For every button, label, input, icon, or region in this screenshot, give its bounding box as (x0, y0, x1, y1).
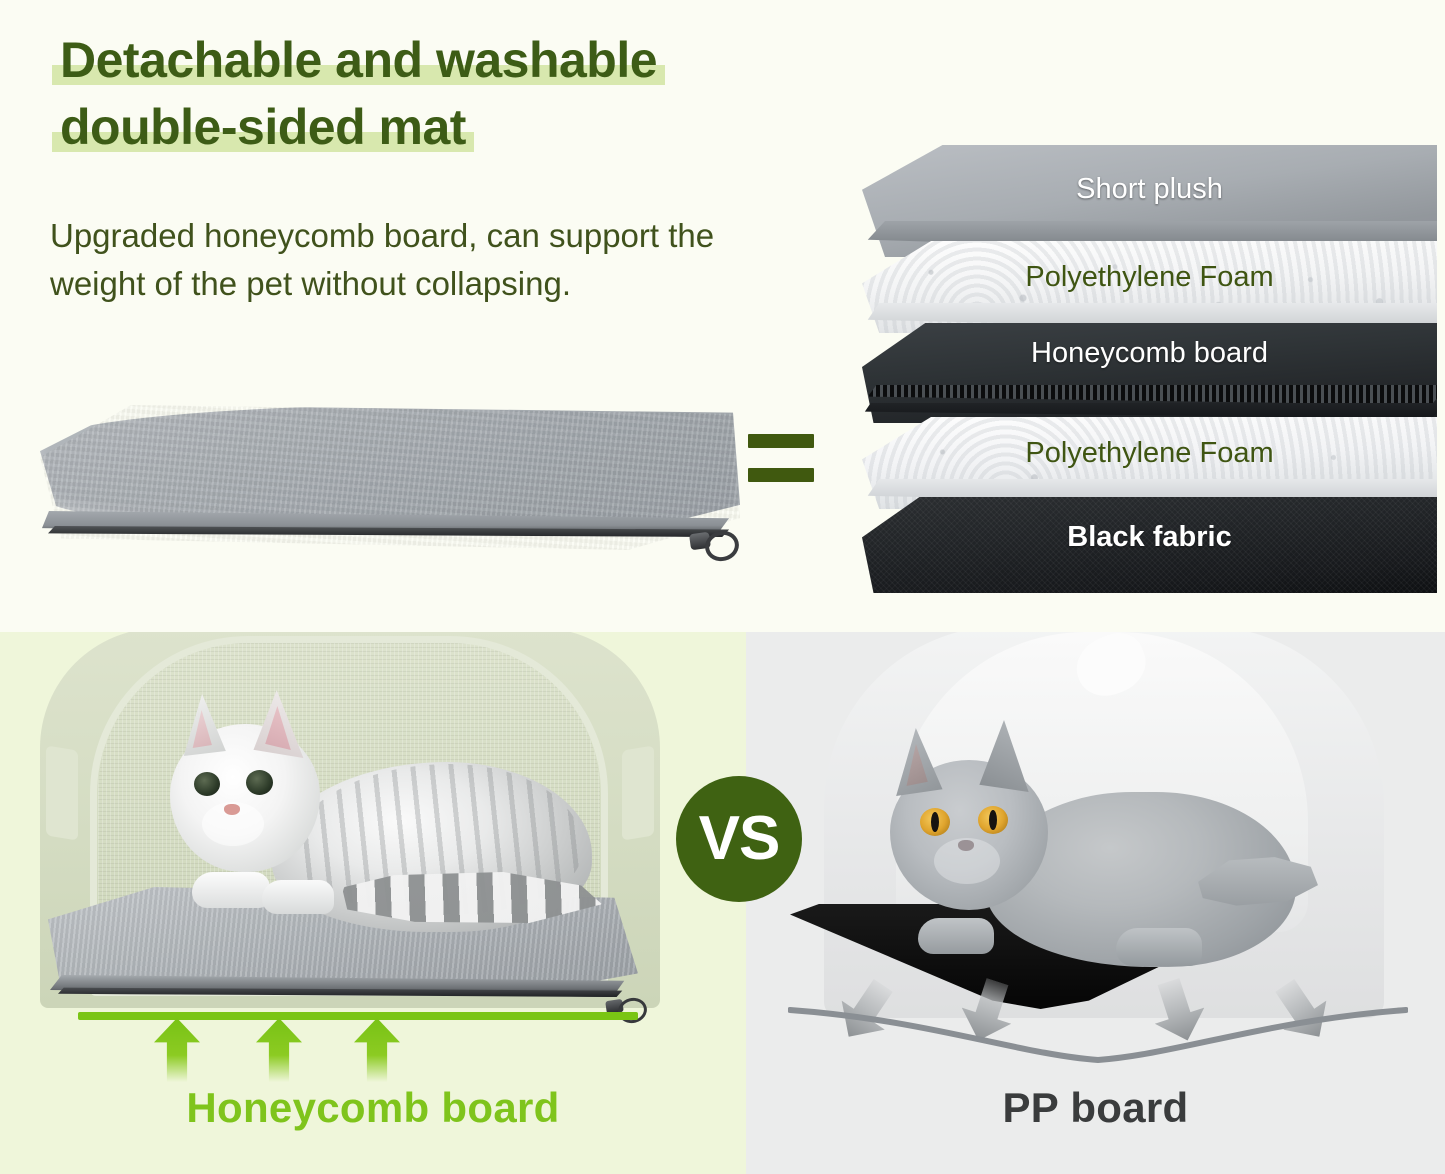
zipper-pull-icon (690, 529, 734, 559)
cat1-paw-right (262, 880, 334, 914)
infographic-page: Detachable and washable double-sided mat… (0, 0, 1445, 1174)
title-text-1: Detachable and washable (60, 32, 657, 88)
cat1-eye-left (194, 772, 220, 796)
mat-body (40, 405, 740, 550)
carrier-strap-right (622, 745, 654, 840)
title-block: Detachable and washable double-sided mat (52, 34, 852, 168)
comparison-section: Honeycomb board (0, 632, 1445, 1174)
cat2-eye-left (920, 808, 950, 836)
cat2-nose (958, 840, 974, 851)
sag-curve-svg (788, 1002, 1408, 1072)
layer-label-foam-bottom: Polyethylene Foam (862, 437, 1437, 470)
layer-black-fabric: Black fabric (862, 497, 1437, 593)
cat2-eye-right (978, 806, 1008, 834)
cat1-nose (224, 804, 240, 815)
layer-honeycomb-board: Honeycomb board (862, 323, 1437, 423)
cat1-eye-right (246, 770, 273, 795)
vs-badge: VS (676, 776, 802, 902)
arrow-up-icon-1 (154, 1018, 200, 1082)
equals-icon (748, 434, 818, 496)
caption-honeycomb-board: Honeycomb board (0, 1084, 746, 1132)
layer-stack-diagram: Short plush Polyethylene Foam Honeycomb … (862, 145, 1437, 575)
arrow-up-icon-2 (256, 1018, 302, 1082)
comparison-left-panel: Honeycomb board (0, 632, 746, 1174)
caption-pp-board: PP board (746, 1084, 1445, 1132)
title-text-2: double-sided mat (60, 99, 466, 155)
layer-label-short-plush: Short plush (862, 173, 1437, 206)
vs-label: VS (699, 808, 780, 870)
sagging-curve-line (788, 1002, 1408, 1072)
comparison-right-panel: PP board (746, 632, 1445, 1174)
subtitle-text: Upgraded honeycomb board, can support th… (50, 212, 810, 308)
equals-bar-top (748, 434, 814, 448)
silver-tabby-cat (132, 684, 592, 984)
equals-bar-bottom (748, 468, 814, 482)
title-line-1: Detachable and washable (52, 34, 665, 89)
carrier-strap-left (46, 745, 78, 840)
cat1-paw-left (192, 872, 270, 908)
top-panel: Detachable and washable double-sided mat… (0, 0, 1445, 632)
support-arrows-up (78, 1012, 638, 1092)
title-line-2: double-sided mat (52, 101, 474, 156)
layer-polyethylene-foam-top: Polyethylene Foam (862, 241, 1437, 333)
british-shorthair-cat (876, 722, 1306, 1012)
cat2-paw-left (918, 918, 994, 954)
product-mat-image (18, 395, 758, 585)
layer-label-honeycomb: Honeycomb board (862, 337, 1437, 370)
layer-polyethylene-foam-bottom: Polyethylene Foam (862, 417, 1437, 509)
cat2-ear-right (976, 720, 1032, 792)
layer-label-foam-top: Polyethylene Foam (862, 261, 1437, 294)
arrow-up-icon-3 (354, 1018, 400, 1082)
layer-label-black-fabric: Black fabric (862, 521, 1437, 554)
cat2-paw-right (1116, 928, 1202, 966)
support-line-flat (78, 1012, 638, 1020)
